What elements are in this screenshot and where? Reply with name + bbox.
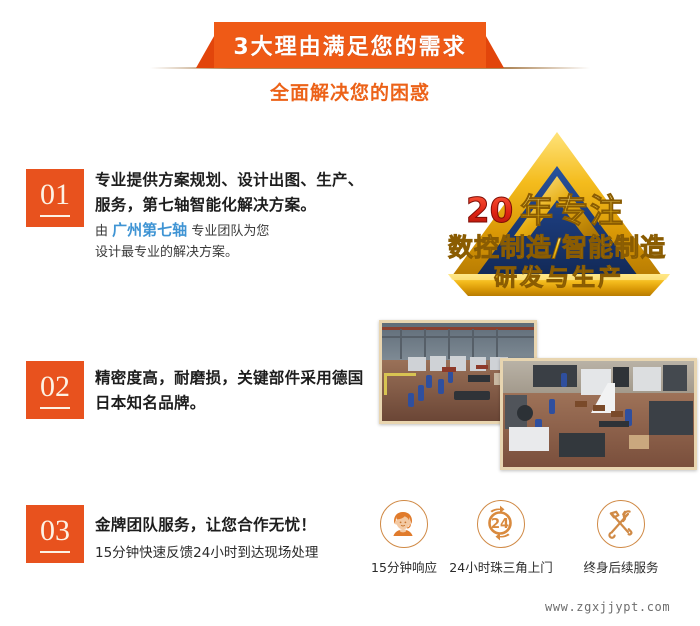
badge-years: 20	[466, 191, 513, 231]
feature-sub-line2-03: 15分钟快速反馈24小时到达现场处理	[95, 543, 355, 564]
customer-service-person-icon	[380, 500, 428, 548]
badge-years-suffix: 年专注	[520, 191, 625, 230]
watermark: www.zgxjjypt.com	[545, 600, 670, 614]
feature-main-03: 金牌团队服务，让您合作无忧！	[95, 513, 355, 538]
feature-main-01: 专业提供方案规划、设计出图、生产、服务，第七轴智能化解决方案。	[95, 168, 375, 218]
feature-text-03: 金牌团队服务，让您合作无忧！ 15分钟快速反馈24小时到达现场处理	[95, 513, 355, 564]
feature-sub-01: 由 广州第七轴 专业团队为您	[95, 221, 375, 242]
feature-text-02: 精密度高，耐磨损，关键部件采用德国日本知名品牌。	[95, 366, 365, 416]
banner: 3大理由满足您的需求	[196, 22, 504, 68]
photo-factory-machining-floor	[500, 358, 697, 470]
feature-number-box-02: 02	[26, 361, 84, 419]
feature-number-box-03: 03	[26, 505, 84, 563]
feature-number-03: 03	[40, 516, 70, 553]
badge-graphic: 20 年专注 数控制造/智能制造 研发与生产	[424, 124, 694, 304]
svg-text:24: 24	[491, 517, 509, 532]
service-item-3: 终身后续服务	[575, 500, 667, 576]
24-hour-clock-icon: 24	[477, 500, 525, 548]
feature-text-01: 专业提供方案规划、设计出图、生产、服务，第七轴智能化解决方案。 由 广州第七轴 …	[95, 168, 375, 263]
feature-number-01: 01	[40, 180, 70, 217]
brand-name-01: 广州第七轴	[112, 223, 187, 239]
feature-sub-prefix-01: 由	[95, 224, 108, 239]
crossed-tools-icon	[597, 500, 645, 548]
feature-sub-suffix-01: 专业团队为您	[191, 224, 269, 239]
header-subtitle: 全面解决您的困惑	[0, 78, 700, 105]
feature-number-box-01: 01	[26, 169, 84, 227]
promo-page: 3大理由满足您的需求 全面解决您的困惑 01 专业提供方案规划、设计出图、生产、…	[0, 0, 700, 626]
service-label-2: 24小时珠三角上门	[435, 557, 567, 576]
service-item-2: 24 24小时珠三角上门	[455, 500, 547, 576]
anniversary-badge: 20 年专注 数控制造/智能制造 研发与生产	[424, 124, 694, 304]
badge-line2: 数控制造/智能制造	[448, 233, 666, 262]
service-label-3: 终身后续服务	[555, 557, 687, 576]
badge-line3: 研发与生产	[494, 264, 624, 291]
banner-title: 3大理由满足您的需求	[196, 22, 504, 68]
header: 3大理由满足您的需求 全面解决您的困惑	[0, 0, 700, 112]
feature-number-02: 02	[40, 372, 70, 409]
feature-main-02: 精密度高，耐磨损，关键部件采用德国日本知名品牌。	[95, 366, 365, 416]
feature-sub-line2-01: 设计最专业的解决方案。	[95, 242, 375, 263]
